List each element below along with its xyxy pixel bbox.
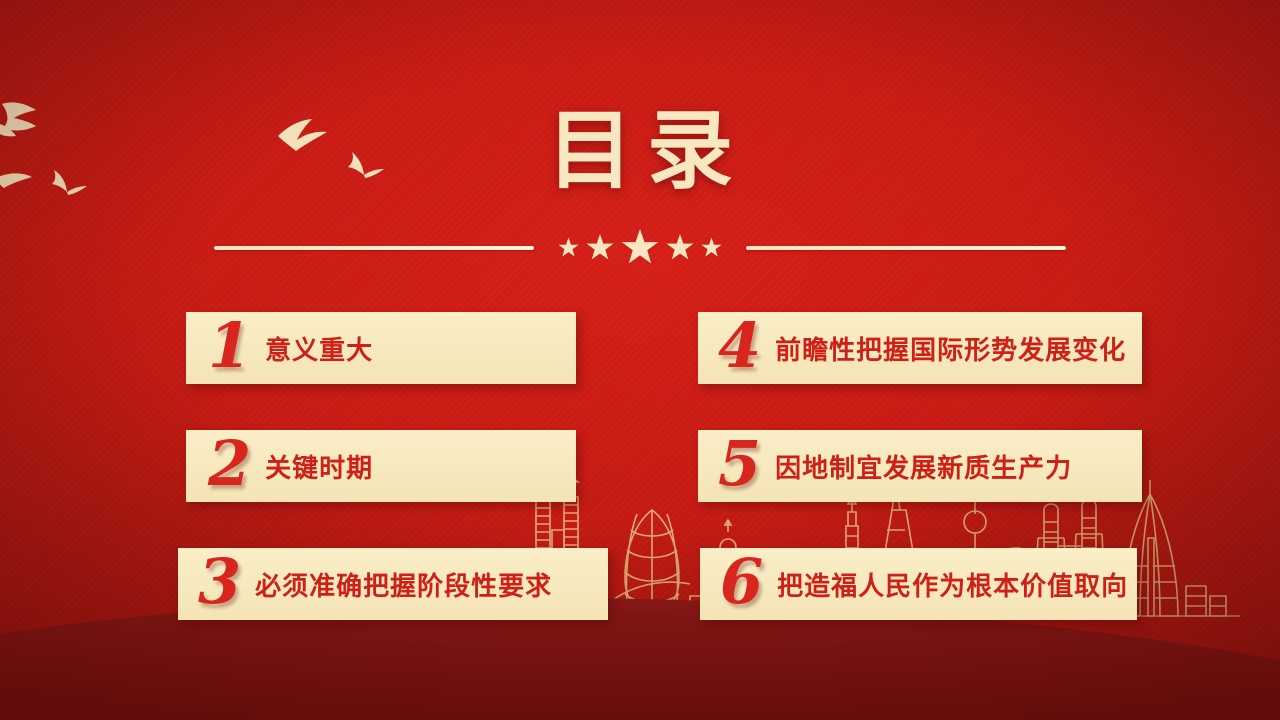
agenda-number-1: 1 [208, 315, 251, 377]
agenda-label-6: 把造福人民作为根本价值取向 [777, 566, 1128, 603]
agenda-number-4: 4 [718, 315, 761, 377]
star-icon [558, 238, 579, 259]
agenda-number-5: 5 [718, 433, 761, 495]
agenda-item-1[interactable]: 1 意义重大 [186, 312, 576, 384]
agenda-item-5[interactable]: 5 因地制宜发展新质生产力 [698, 430, 1142, 502]
agenda-number-3: 3 [198, 551, 241, 613]
page-title: 目录 [0, 108, 1280, 194]
star-icon [621, 229, 659, 267]
star-icon [701, 238, 722, 259]
agenda-label-2: 关键时期 [265, 448, 373, 485]
star-icon [666, 234, 694, 262]
star-group [558, 229, 722, 267]
agenda-item-4[interactable]: 4 前瞻性把握国际形势发展变化 [698, 312, 1142, 384]
agenda-label-5: 因地制宜发展新质生产力 [775, 448, 1072, 485]
agenda-label-1: 意义重大 [265, 330, 373, 367]
star-icon [586, 234, 614, 262]
agenda-number-2: 2 [208, 433, 251, 495]
agenda-label-3: 必须准确把握阶段性要求 [255, 566, 552, 603]
divider-rule-left [214, 246, 534, 250]
agenda-list: 1 意义重大 2 关键时期 3 必须准确把握阶段性要求 4 前瞻性把握国际形势发… [0, 312, 1280, 642]
presentation-slide: 目录 [0, 0, 1280, 720]
agenda-item-2[interactable]: 2 关键时期 [186, 430, 576, 502]
agenda-label-4: 前瞻性把握国际形势发展变化 [775, 330, 1126, 367]
agenda-number-6: 6 [720, 551, 763, 613]
agenda-item-3[interactable]: 3 必须准确把握阶段性要求 [178, 548, 608, 620]
agenda-item-6[interactable]: 6 把造福人民作为根本价值取向 [700, 548, 1137, 620]
title-divider [0, 228, 1280, 268]
divider-rule-right [746, 246, 1066, 250]
